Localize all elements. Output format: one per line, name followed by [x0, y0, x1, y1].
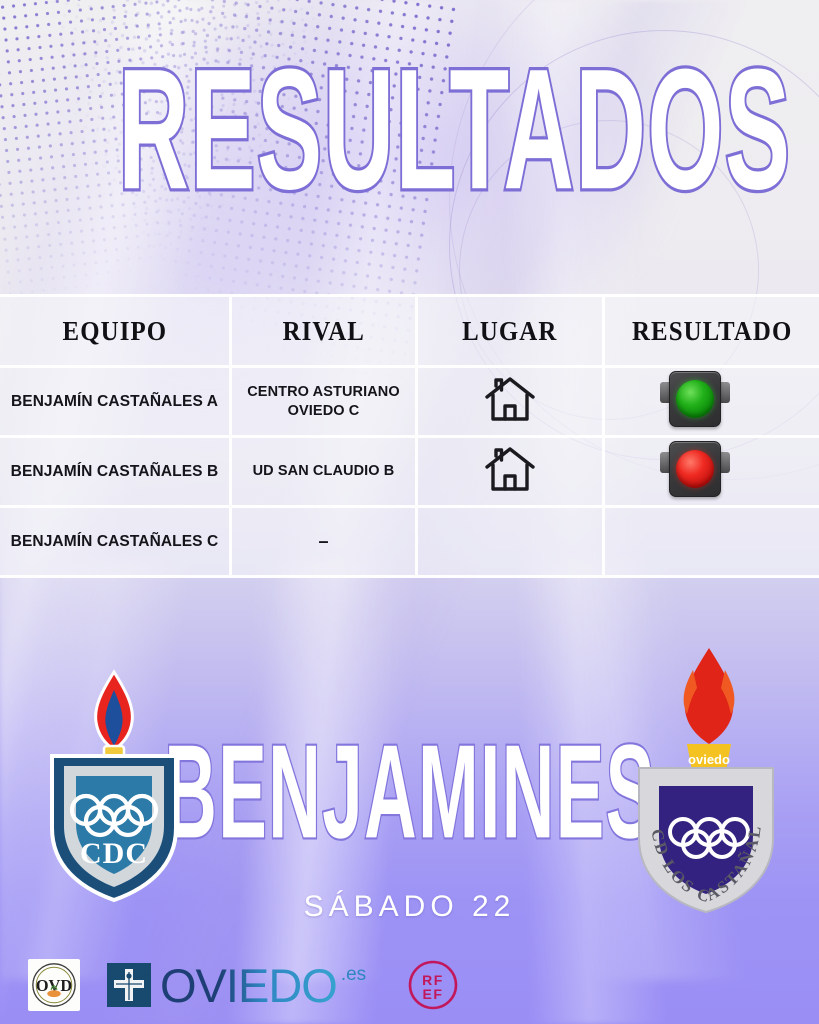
table-header-row: EQUIPO RIVAL LUGAR RESULTADO — [0, 294, 819, 368]
column-header-equipo: EQUIPO — [0, 294, 232, 368]
cell-resultado — [605, 438, 819, 508]
main-title-container: RESULTADOS — [0, 44, 819, 176]
traffic-light-red-icon — [661, 439, 729, 499]
crest-text: CDC — [80, 837, 148, 870]
header-label: EQUIPO — [62, 316, 167, 347]
rival-name: – — [318, 531, 328, 551]
rfef-logo: RF EF — [406, 958, 460, 1012]
cell-rival: CENTRO ASTURIANO OVIEDO C — [232, 368, 418, 438]
column-header-lugar: LUGAR — [418, 294, 605, 368]
cell-resultado — [605, 368, 819, 438]
team-name: BENJAMÍN CASTAÑALES C — [0, 532, 229, 551]
castanales-crest: oviedo CD LOS CASTAÑALES — [621, 640, 791, 915]
ovd-badge: OVD — [28, 959, 80, 1011]
header-label: RIVAL — [282, 316, 364, 347]
rival-name: CENTRO ASTURIANO OVIEDO C — [232, 383, 415, 419]
team-name: BENJAMÍN CASTAÑALES A — [0, 392, 229, 411]
cell-lugar — [418, 438, 605, 508]
page-title: RESULTADOS — [118, 44, 791, 216]
oviedo-suffix: .es — [341, 964, 366, 986]
cell-resultado — [605, 508, 819, 578]
header-label: LUGAR — [462, 316, 557, 347]
cell-lugar — [418, 508, 605, 578]
rfef-line2: EF — [423, 986, 444, 1002]
category-title: BENJAMINES — [164, 726, 655, 859]
results-table: EQUIPO RIVAL LUGAR RESULTADO BENJAMÍN CA… — [0, 294, 819, 578]
table-row: BENJAMÍN CASTAÑALES A CENTRO ASTURIANO O… — [0, 368, 819, 438]
table-row: BENJAMÍN CASTAÑALES C – — [0, 508, 819, 578]
cell-rival: UD SAN CLAUDIO B — [232, 438, 418, 508]
column-header-resultado: RESULTADO — [605, 294, 819, 368]
rival-name: UD SAN CLAUDIO B — [232, 462, 415, 480]
svg-text:cris: cris — [137, 969, 151, 979]
cell-equipo: BENJAMÍN CASTAÑALES A — [0, 368, 232, 438]
traffic-light-green-icon — [661, 369, 729, 429]
oviedo-wordmark: OVIEDO — [160, 962, 337, 1009]
sponsor-bar: OVD cris OVIEDO .es RF EF — [0, 946, 819, 1024]
oviedo-cross-icon: cris — [106, 962, 152, 1008]
cdc-crest: CDC — [34, 660, 194, 905]
oviedo-es-logo: cris OVIEDO .es — [106, 962, 366, 1009]
cell-lugar — [418, 368, 605, 438]
column-header-rival: RIVAL — [232, 294, 418, 368]
header-label: RESULTADO — [632, 316, 792, 347]
table-row: BENJAMÍN CASTAÑALES B UD SAN CLAUDIO B — [0, 438, 819, 508]
cell-equipo: BENJAMÍN CASTAÑALES C — [0, 508, 232, 578]
house-icon — [483, 374, 537, 424]
results-poster: RESULTADOS EQUIPO RIVAL LUGAR RESULTADO — [0, 0, 819, 1024]
team-name: BENJAMÍN CASTAÑALES B — [0, 462, 229, 481]
torch-label: oviedo — [688, 752, 730, 767]
match-date: SÁBADO 22 — [304, 890, 516, 923]
house-icon — [483, 444, 537, 494]
cell-equipo: BENJAMÍN CASTAÑALES B — [0, 438, 232, 508]
cell-rival: – — [232, 508, 418, 578]
